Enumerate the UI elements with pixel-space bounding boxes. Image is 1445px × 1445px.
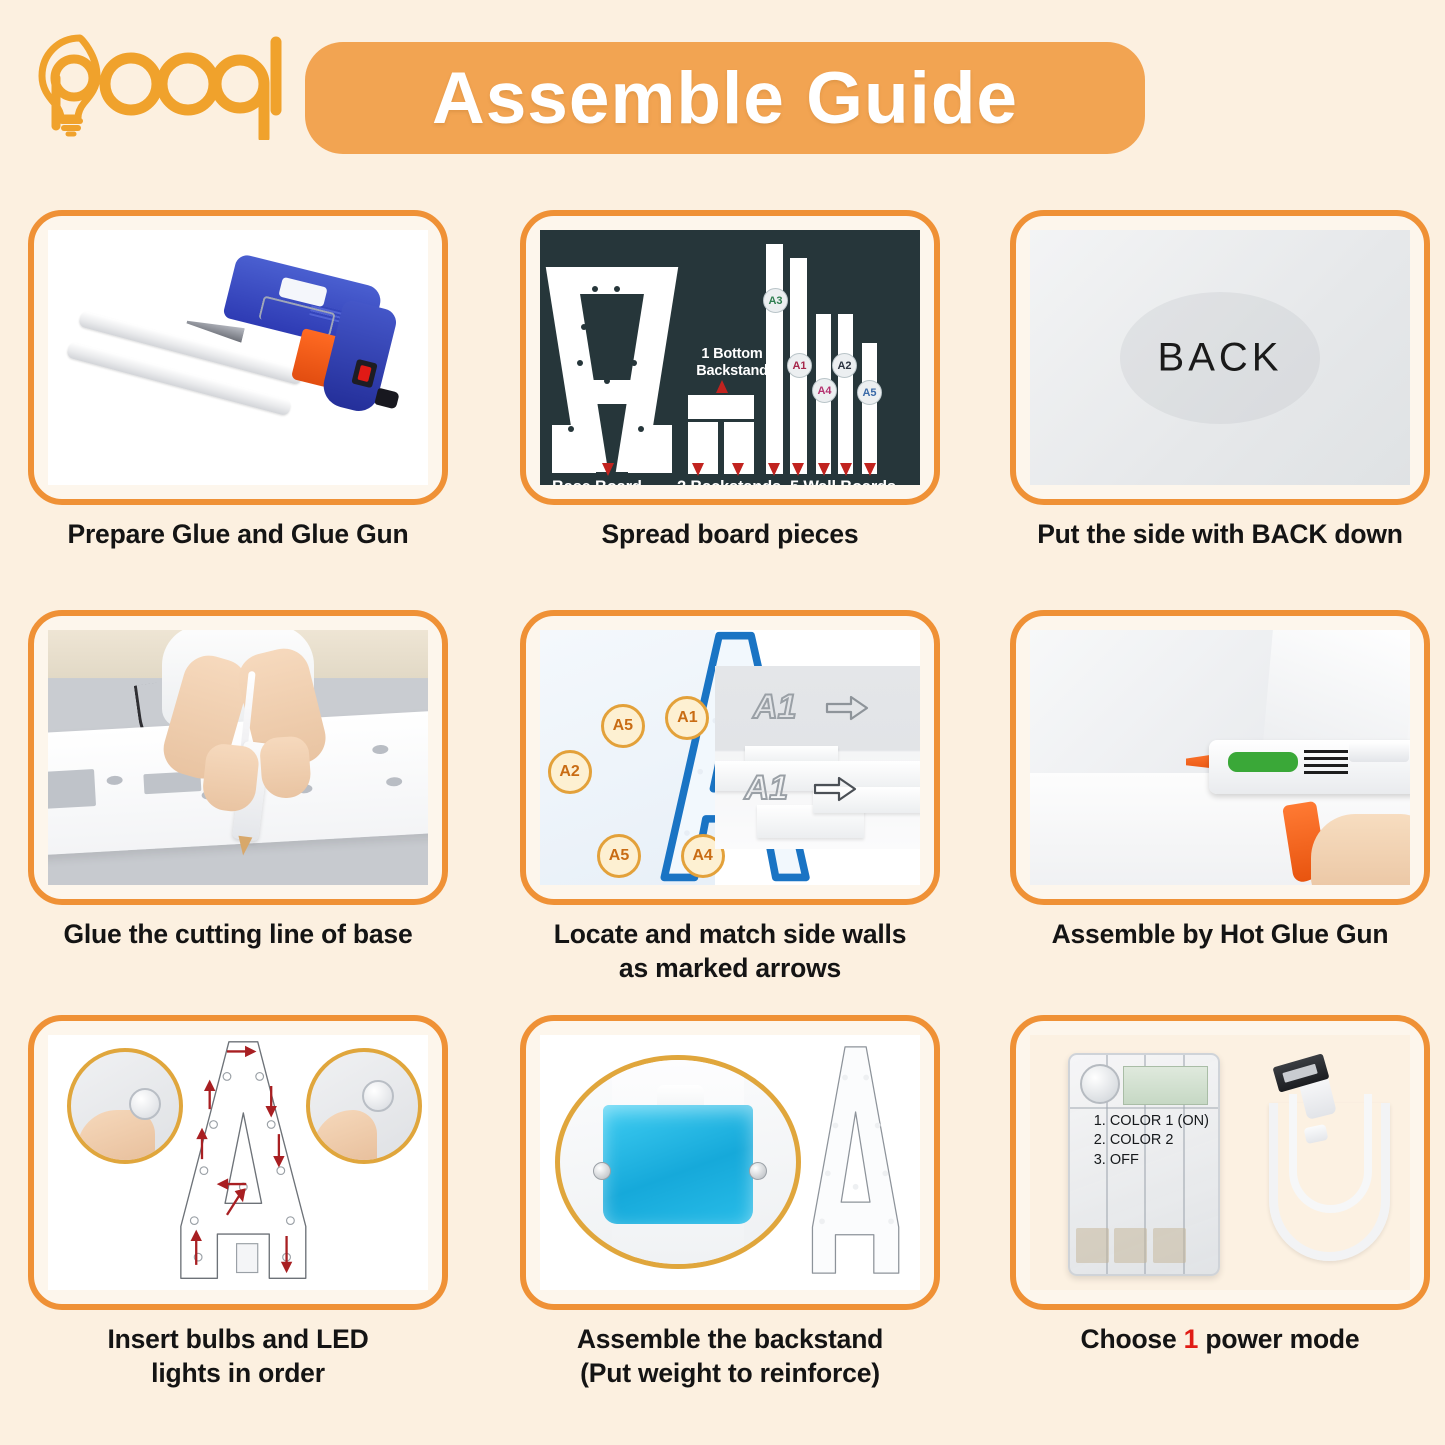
step-3-image-frame: BACK [1010, 210, 1430, 505]
page-header: Assemble Guide [0, 0, 1445, 180]
power-mode-1: 1. COLOR 1 (ON) [1094, 1112, 1218, 1132]
base-board-crossbar [578, 380, 646, 404]
step-card-5: A5 A1 A2 A5 A4 A1 A1 [520, 610, 940, 1010]
step-card-8: Assemble the backstand (Put weight to re… [520, 1015, 940, 1435]
battery-box-knob-icon [1080, 1064, 1120, 1104]
steps-grid: Prepare Glue and Glue Gun [0, 180, 1445, 1445]
glue-gun-vent-icon [1304, 750, 1348, 774]
board-pieces-diagram: A3 A1 A2 A4 A5 1 Bottom Backstand Base B… [540, 230, 920, 485]
back-labeled-board-photo: BACK [1030, 230, 1410, 485]
step-9-caption-highlight: 1 [1184, 1324, 1199, 1354]
screw-icon [749, 1162, 767, 1180]
power-mode-list: 1. COLOR 1 (ON) 2. COLOR 2 3. OFF [1094, 1112, 1218, 1171]
step-5-caption: Locate and match side walls as marked ar… [506, 918, 954, 986]
step-9-image-frame: 1. COLOR 1 (ON) 2. COLOR 2 3. OFF [1010, 1015, 1430, 1310]
arrow-right-icon [825, 695, 869, 721]
step-3-caption: Put the side with BACK down [996, 518, 1444, 552]
step-7-caption: Insert bulbs and LED lights in order [14, 1323, 462, 1391]
step-6-caption: Assemble by Hot Glue Gun [996, 918, 1444, 952]
arrow-right-icon [813, 776, 857, 802]
usb-cable-icon [1235, 1055, 1402, 1269]
step-card-9: 1. COLOR 1 (ON) 2. COLOR 2 3. OFF [1010, 1015, 1430, 1435]
battery-box-and-usb-cable-photo: 1. COLOR 1 (ON) 2. COLOR 2 3. OFF [1030, 1035, 1410, 1290]
water-bag-closeup [555, 1055, 801, 1269]
step-card-2: A3 A1 A2 A4 A5 1 Bottom Backstand Base B… [520, 210, 940, 610]
label-wall-boards: 5 Wall Boards [790, 478, 896, 485]
wall-board-a2 [838, 314, 853, 474]
bulb-insertion-order-diagram [48, 1035, 428, 1290]
step-card-1: Prepare Glue and Glue Gun [28, 210, 448, 610]
power-mode-2: 2. COLOR 2 [1094, 1131, 1218, 1151]
step-5-caption-line-2: as marked arrows [506, 952, 954, 986]
blue-water-bag-icon [603, 1105, 754, 1223]
backstand-water-bag-photo [540, 1035, 920, 1290]
wall-board-a5 [862, 343, 877, 474]
battery-box-circuit-icon [1123, 1066, 1208, 1105]
step-9-caption-pre: Choose [1081, 1324, 1184, 1354]
step-card-4: Glue the cutting line of base [28, 610, 448, 1010]
base-board-foot-right [628, 425, 672, 473]
brand-logo [18, 22, 293, 140]
step-7-caption-line-1: Insert bulbs and LED [14, 1323, 462, 1357]
side-wall-matching-diagram: A5 A1 A2 A5 A4 A1 A1 [540, 630, 920, 885]
step-1-caption: Prepare Glue and Glue Gun [14, 518, 462, 552]
base-board-apex [574, 267, 650, 294]
back-label-text: BACK [1158, 335, 1283, 380]
hands-gluing-base-board-photo [48, 630, 428, 885]
step-9-caption: Choose 1 power mode [996, 1323, 1444, 1357]
power-mode-3: 3. OFF [1094, 1151, 1218, 1171]
base-board-foot-left [552, 425, 596, 473]
step-card-6: Assemble by Hot Glue Gun [1010, 610, 1430, 1010]
page-title: Assemble Guide [432, 57, 1018, 140]
step-4-image-frame [28, 610, 448, 905]
label-backstands: 2 Backstands [677, 478, 781, 485]
piece-badge-a4: A4 [812, 378, 837, 403]
step-card-7: Insert bulbs and LED lights in order [28, 1015, 448, 1435]
piece-badge-a3: A3 [763, 288, 788, 313]
glue-gun-brand-label-icon [1228, 752, 1298, 772]
step-1-image-frame [28, 210, 448, 505]
step-8-image-frame [520, 1015, 940, 1310]
lightbulb-icon [18, 22, 293, 140]
step-5-image-frame: A5 A1 A2 A5 A4 A1 A1 [520, 610, 940, 905]
piece-badge-a5: A5 [857, 380, 882, 405]
letter-a-wireframe [154, 1038, 329, 1288]
glue-gun-and-glue-sticks-photo [48, 230, 428, 485]
battery-box-icon: 1. COLOR 1 (ON) 2. COLOR 2 3. OFF [1068, 1053, 1220, 1276]
step-8-caption: Assemble the backstand (Put weight to re… [506, 1323, 954, 1391]
step-2-caption: Spread board pieces [506, 518, 954, 552]
wall-badge-a2: A2 [548, 750, 592, 794]
bulb-insert-closeup-right [306, 1048, 422, 1164]
backstand-piece-top [688, 395, 754, 419]
step-7-image-frame [28, 1015, 448, 1310]
wall-board-photo: A1 A1 [715, 666, 920, 850]
step-2-image-frame: A3 A1 A2 A4 A5 1 Bottom Backstand Base B… [520, 210, 940, 505]
label-bottom-backstand: 1 Bottom Backstand [682, 346, 782, 379]
step-9-caption-post: power mode [1198, 1324, 1359, 1354]
glue-stick-icon [1349, 742, 1409, 762]
piece-badge-a1: A1 [787, 353, 812, 378]
mark-a1-lower: A1 [745, 769, 788, 808]
wall-badge-a5-top: A5 [601, 704, 645, 748]
label-base-board: Base Board [552, 478, 642, 485]
step-6-image-frame [1010, 610, 1430, 905]
wall-badge-a5-bottom: A5 [597, 834, 641, 878]
person-hand [1311, 814, 1410, 885]
step-4-caption: Glue the cutting line of base [14, 918, 462, 952]
step-8-caption-line-1: Assemble the backstand [506, 1323, 954, 1357]
step-5-caption-line-1: Locate and match side walls [506, 918, 954, 952]
bulb-insert-closeup-left [67, 1048, 183, 1164]
assembled-letter-a [791, 1043, 920, 1283]
page-title-banner: Assemble Guide [305, 42, 1145, 154]
step-7-caption-line-2: lights in order [14, 1357, 462, 1391]
piece-badge-a2: A2 [832, 353, 857, 378]
step-card-3: BACK Put the side with BACK down [1010, 210, 1430, 610]
hot-glue-gun-assembly-photo [1030, 630, 1410, 885]
mark-a1-upper: A1 [753, 688, 796, 727]
step-8-caption-line-2: (Put weight to reinforce) [506, 1357, 954, 1391]
